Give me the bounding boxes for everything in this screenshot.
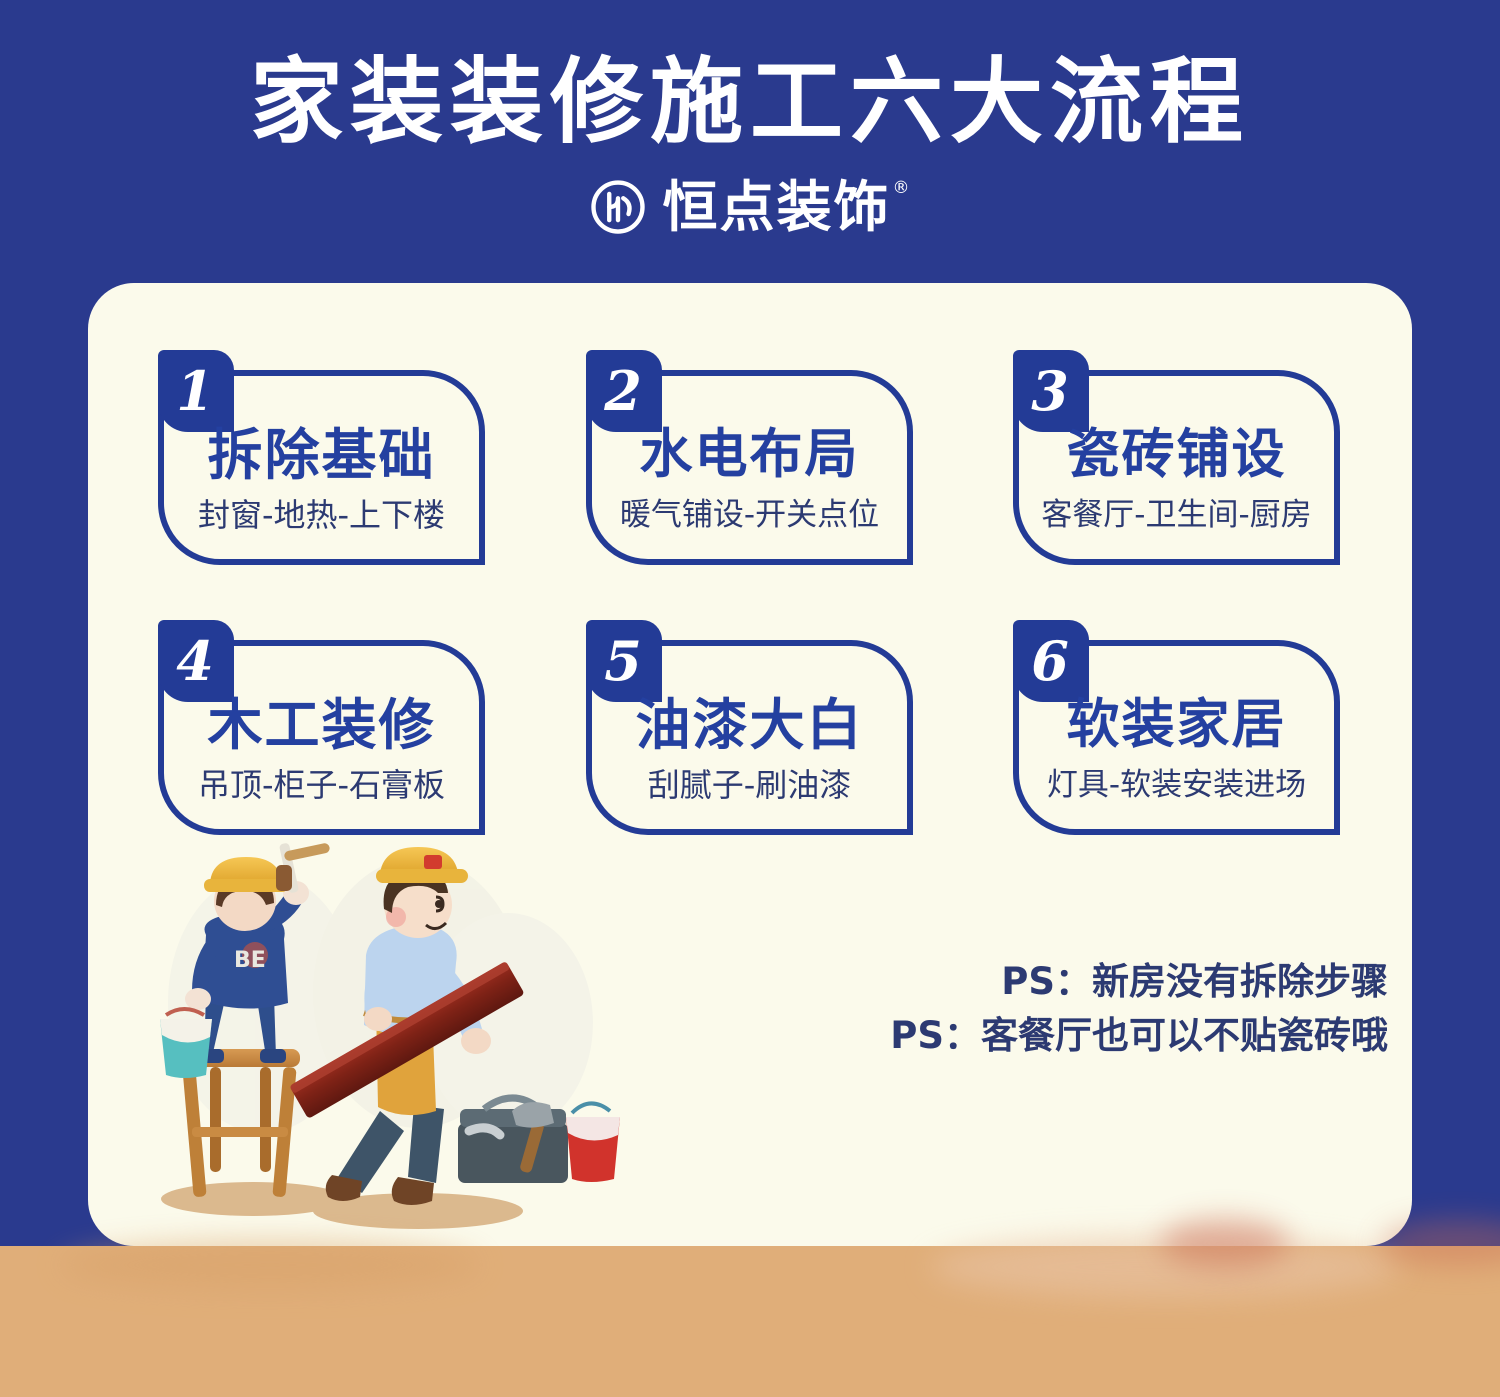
step-subtitle: 封窗-地热-上下楼 [152,496,491,534]
poster-canvas: 家装装修施工六大流程 恒点装饰 ® 1 拆除基础 封窗-地 [0,0,1500,1397]
process-steps-grid: 1 拆除基础 封窗-地热-上下楼 2 水电布局 暖气铺设-开关点位 3 瓷砖铺设… [158,350,1348,860]
step-subtitle: 客餐厅-卫生间-厨房 [1007,496,1346,534]
step-card-6[interactable]: 6 软装家居 灯具-软装安装进场 [1013,620,1348,843]
step-subtitle: 暖气铺设-开关点位 [580,496,919,534]
hard-hat-left [204,857,288,892]
content-panel: 1 拆除基础 封窗-地热-上下楼 2 水电布局 暖气铺设-开关点位 3 瓷砖铺设… [88,283,1412,1246]
step-card-3[interactable]: 3 瓷砖铺设 客餐厅-卫生间-厨房 [1013,350,1348,573]
hat-badge [424,855,442,869]
circular-hd-monogram-icon [590,179,646,235]
poster-header: 家装装修施工六大流程 恒点装饰 ® [0,0,1500,270]
paint-bucket-blue [160,1009,212,1078]
ground-blotch [60,1240,480,1290]
brand-logo: 恒点装饰 ® [0,172,1500,242]
ground-blotch [1160,1218,1290,1268]
footnote-line: PS：客餐厅也可以不贴瓷砖哦 [788,1009,1388,1063]
step-number: 3 [1013,350,1089,432]
step-title: 拆除基础 [158,426,485,484]
step-number: 6 [1013,620,1089,702]
footnotes: PS：新房没有拆除步骤 PS：客餐厅也可以不贴瓷砖哦 [788,955,1388,1063]
step-subtitle: 吊顶-柜子-石膏板 [152,766,491,804]
footnote-line: PS：新房没有拆除步骤 [788,955,1388,1009]
hand-front [461,1028,491,1054]
page-title: 家装装修施工六大流程 [0,52,1500,152]
step-number: 4 [158,620,234,702]
hard-hat-right [376,847,468,883]
step-subtitle: 灯具-软装安装进场 [1007,766,1346,804]
workers-illustration: BE [88,843,648,1246]
step-title: 瓷砖铺设 [1013,426,1340,484]
step-card-2[interactable]: 2 水电布局 暖气铺设-开关点位 [586,350,921,573]
step-subtitle: 刮腻子-刷油漆 [580,766,919,804]
step-title: 软装家居 [1013,696,1340,754]
step-number: 5 [586,620,662,702]
step-number: 2 [586,350,662,432]
step-title: 水电布局 [586,426,913,484]
step-title: 油漆大白 [586,696,913,754]
step-card-5[interactable]: 5 油漆大白 刮腻子-刷油漆 [586,620,921,843]
paint-bucket-red [566,1103,620,1182]
step-number: 1 [158,350,234,432]
brand-name: 恒点装饰 [662,178,890,236]
step-card-4[interactable]: 4 木工装修 吊顶-柜子-石膏板 [158,620,493,843]
ground-band [0,1246,1500,1397]
shirt-text: BE [234,948,266,973]
hand-back [364,1007,392,1031]
workers-illustration-svg: BE [88,843,648,1246]
step-card-1[interactable]: 1 拆除基础 封窗-地热-上下楼 [158,350,493,573]
registered-mark: ® [893,180,910,197]
step-title: 木工装修 [158,696,485,754]
